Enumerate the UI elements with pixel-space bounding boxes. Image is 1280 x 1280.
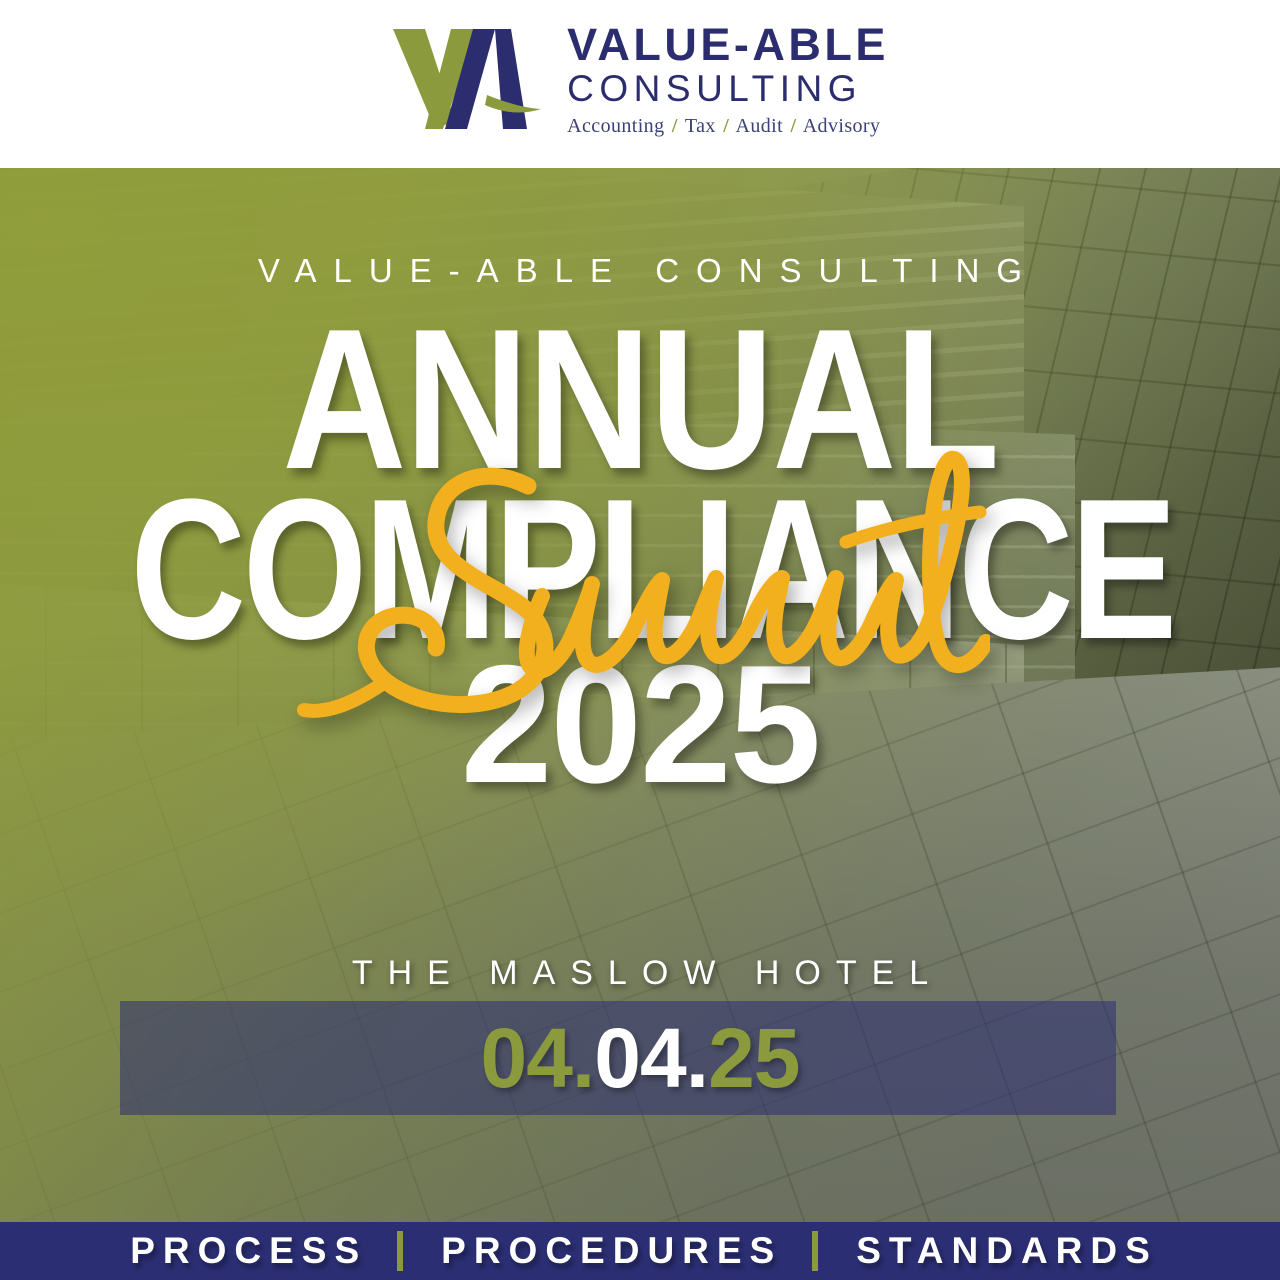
header-logo-band: VALUE-ABLE CONSULTING Accounting / Tax /… (0, 0, 1280, 168)
va-monogram-icon (391, 25, 541, 135)
footer-item-process: PROCESS (122, 1230, 367, 1272)
brand-subtitle: CONSULTING (567, 68, 862, 109)
tagline-separator: / (788, 115, 798, 137)
eyebrow-text: VALUE-ABLE CONSULTING (0, 252, 1280, 290)
tagline-separator: / (670, 115, 680, 137)
footer-bar: PROCESS PROCEDURES STANDARDS (0, 1222, 1280, 1280)
date-part-month: 04. (594, 1011, 708, 1105)
footer-separator-icon (397, 1231, 403, 1271)
headline-year: 2025 (13, 628, 1267, 821)
footer-separator-icon (812, 1231, 818, 1271)
tagline-accounting: Accounting (567, 115, 664, 137)
event-date: 04.04.25 (0, 1006, 1280, 1110)
brand-logo: VALUE-ABLE CONSULTING Accounting / Tax /… (391, 22, 889, 137)
brand-wordmark: VALUE-ABLE CONSULTING Accounting / Tax /… (567, 22, 889, 137)
venue-name: THE MASLOW HOTEL (0, 954, 1280, 993)
tagline-advisory: Advisory (803, 115, 881, 137)
poster-body: VALUE-ABLE CONSULTING ANNUAL COMPLIANCE … (0, 168, 1280, 1280)
date-part-day: 04. (481, 1011, 595, 1105)
tagline-tax: Tax (685, 115, 716, 137)
tagline-separator: / (721, 115, 731, 137)
brand-tagline: Accounting / Tax / Audit / Advisory (567, 115, 880, 138)
headline-block: ANNUAL COMPLIANCE 2025 (0, 308, 1280, 821)
date-part-year: 25 (708, 1011, 799, 1105)
tagline-audit: Audit (735, 115, 783, 137)
brand-name: VALUE-ABLE (567, 22, 889, 68)
footer-item-standards: STANDARDS (848, 1230, 1158, 1272)
footer-item-procedures: PROCEDURES (433, 1230, 782, 1272)
